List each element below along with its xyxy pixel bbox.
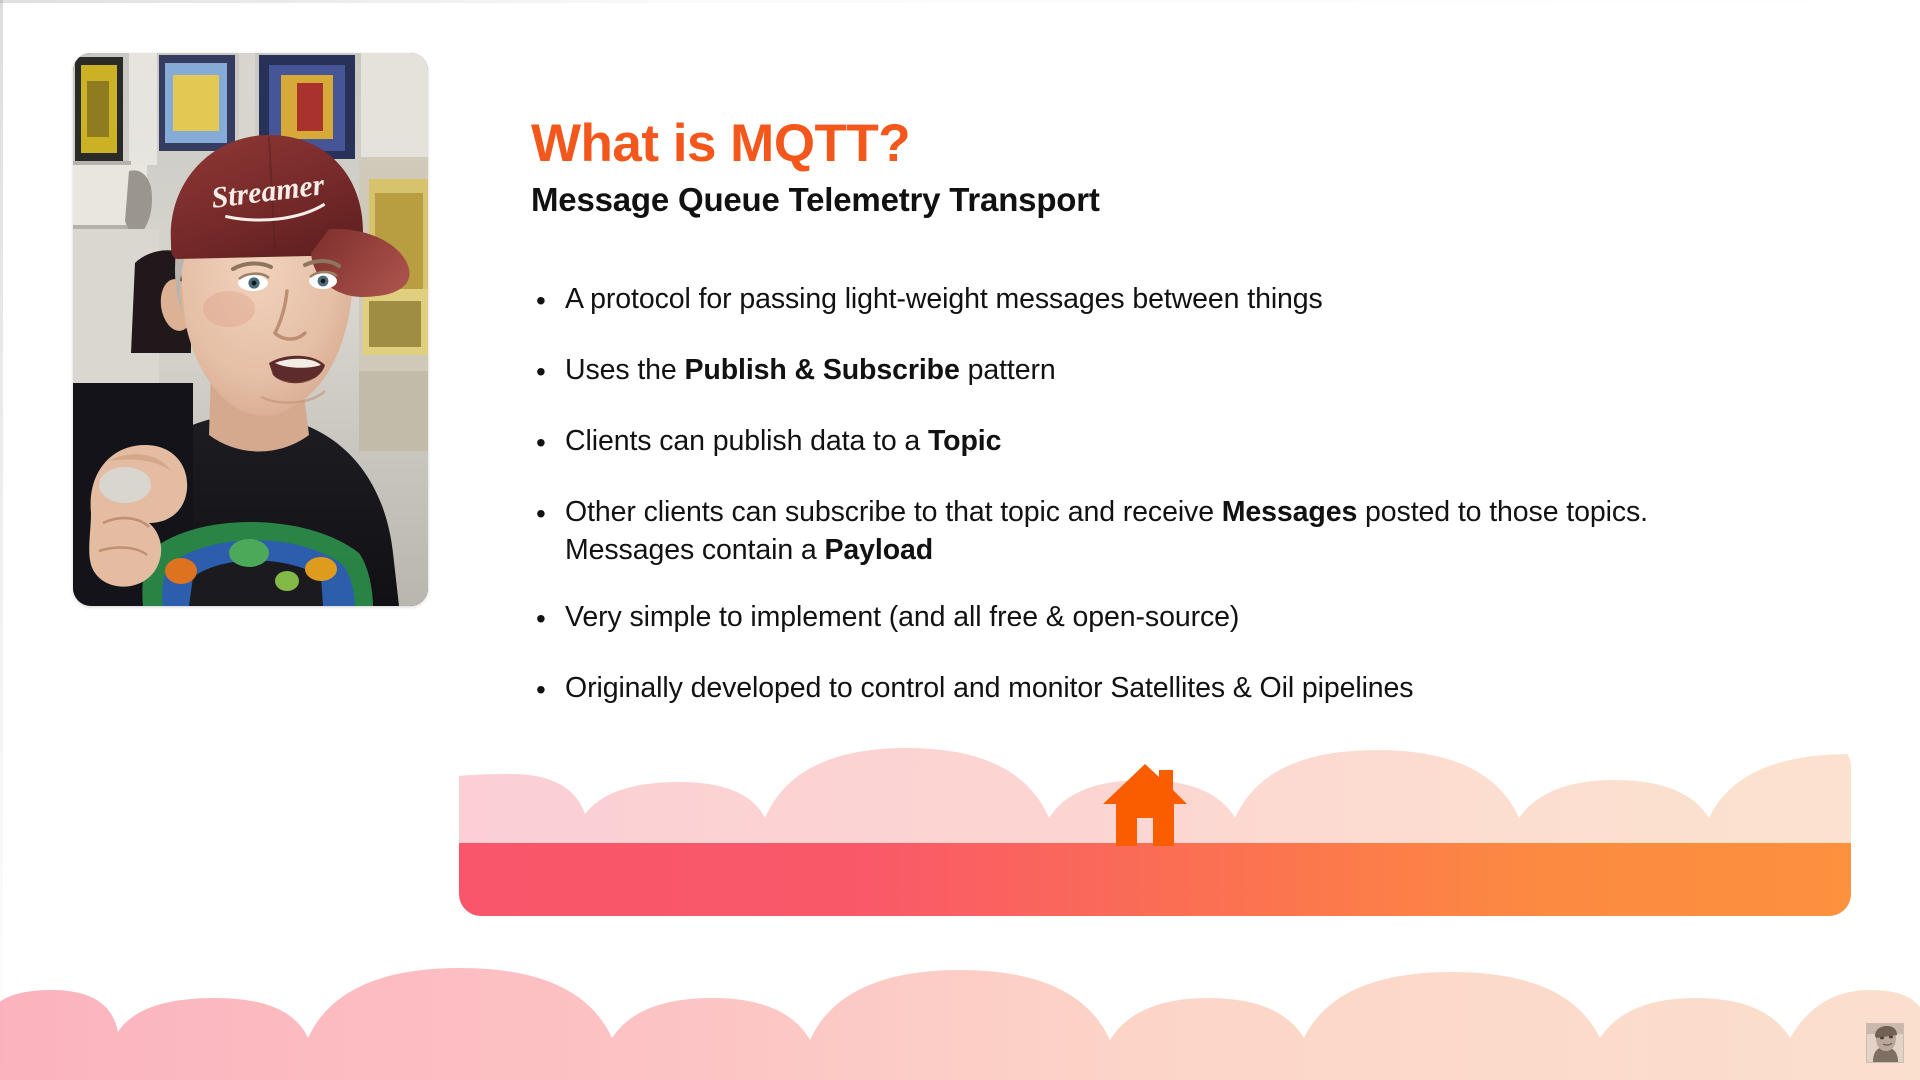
cloud-scallop-decoration xyxy=(0,952,1920,1080)
text-run: Other clients can subscribe to that topi… xyxy=(565,496,1222,528)
text-run: Originally developed to control and moni… xyxy=(565,672,1413,704)
bullet-marker-icon: • xyxy=(531,493,565,535)
bullet-list: •A protocol for passing light-weight mes… xyxy=(531,280,1861,711)
top-edge-artifact xyxy=(0,0,1920,3)
left-edge-artifact xyxy=(0,0,3,1080)
list-item-label: Other clients can subscribe to that topi… xyxy=(565,493,1745,569)
bullet-marker-icon: • xyxy=(531,598,565,640)
list-item-label: Originally developed to control and moni… xyxy=(565,669,1745,707)
emphasis-term: Topic xyxy=(928,425,1001,457)
list-item: •Uses the Publish & Subscribe pattern xyxy=(531,351,1861,393)
list-item-label: Uses the Publish & Subscribe pattern xyxy=(565,351,1745,389)
cloud-banner xyxy=(459,744,1851,916)
emphasis-term: Payload xyxy=(825,534,934,566)
text-run: pattern xyxy=(960,354,1056,386)
bullet-marker-icon: • xyxy=(531,351,565,393)
list-item-label: Very simple to implement (and all free &… xyxy=(565,598,1745,636)
bullet-marker-icon: • xyxy=(531,669,565,711)
bullet-marker-icon: • xyxy=(531,280,565,322)
presenter-webcam[interactable]: Streamer xyxy=(73,53,428,606)
slide-content: What is MQTT? Message Queue Telemetry Tr… xyxy=(531,116,1861,740)
emphasis-term: Messages xyxy=(1222,496,1357,528)
text-run: Uses the xyxy=(565,354,685,386)
list-item: •Very simple to implement (and all free … xyxy=(531,598,1861,640)
list-item: •Clients can publish data to a Topic xyxy=(531,422,1861,464)
slide-canvas: Streamer xyxy=(0,0,1920,1080)
list-item: •Originally developed to control and mon… xyxy=(531,669,1861,711)
text-run: Very simple to implement (and all free &… xyxy=(565,601,1239,633)
bullet-marker-icon: • xyxy=(531,422,565,464)
list-item-label: A protocol for passing light-weight mess… xyxy=(565,280,1745,318)
text-run: Clients can publish data to a xyxy=(565,425,928,457)
page-subtitle: Message Queue Telemetry Transport xyxy=(531,182,1861,218)
text-run: A protocol for passing light-weight mess… xyxy=(565,283,1323,315)
presenter-corner-thumbnail[interactable] xyxy=(1866,1023,1904,1063)
list-item: •Other clients can subscribe to that top… xyxy=(531,493,1861,569)
list-item-label: Clients can publish data to a Topic xyxy=(565,422,1745,460)
emphasis-term: Publish & Subscribe xyxy=(685,354,960,386)
list-item: •A protocol for passing light-weight mes… xyxy=(531,280,1861,322)
page-title: What is MQTT? xyxy=(531,116,1861,172)
